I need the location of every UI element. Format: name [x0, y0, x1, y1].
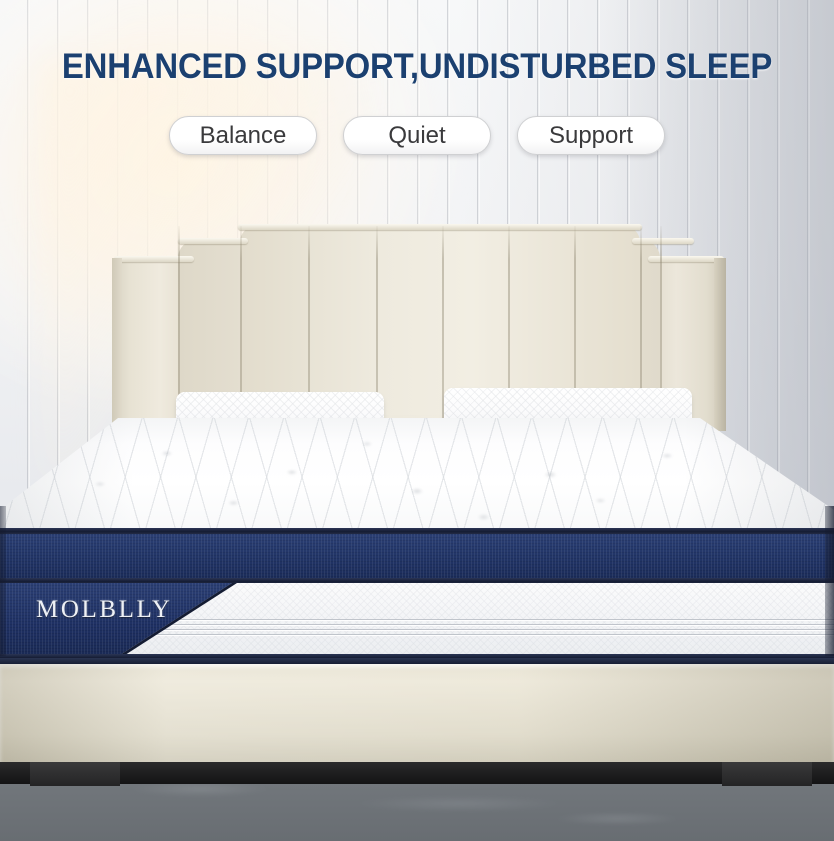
bed-base — [0, 664, 834, 784]
bed-foot-right — [722, 762, 812, 786]
base-shading — [0, 664, 834, 762]
headboard-left-edge — [112, 258, 122, 431]
mattress-right-edge — [825, 506, 834, 656]
mattress-left-edge — [0, 506, 6, 656]
badge-quiet[interactable]: Quiet — [343, 116, 491, 155]
base-plinth — [0, 762, 834, 784]
bed-foot-left — [30, 762, 120, 786]
page-title: ENHANCED SUPPORT,UNDISTURBED SLEEP — [25, 47, 809, 87]
mattress-navy-fabric-texture — [0, 534, 834, 580]
mattress: MOLBLLY — [0, 418, 834, 668]
headboard-right-edge — [714, 258, 726, 431]
feature-badge-row: Balance Quiet Support — [0, 116, 834, 155]
mattress-top-shading — [0, 418, 834, 536]
product-banner: MOLBLLY ENHANCED SUPPORT,UNDISTURBED SLE… — [0, 0, 834, 841]
brand-logo: MOLBLLY — [36, 596, 173, 624]
badge-balance[interactable]: Balance — [169, 116, 317, 155]
badge-support[interactable]: Support — [517, 116, 665, 155]
